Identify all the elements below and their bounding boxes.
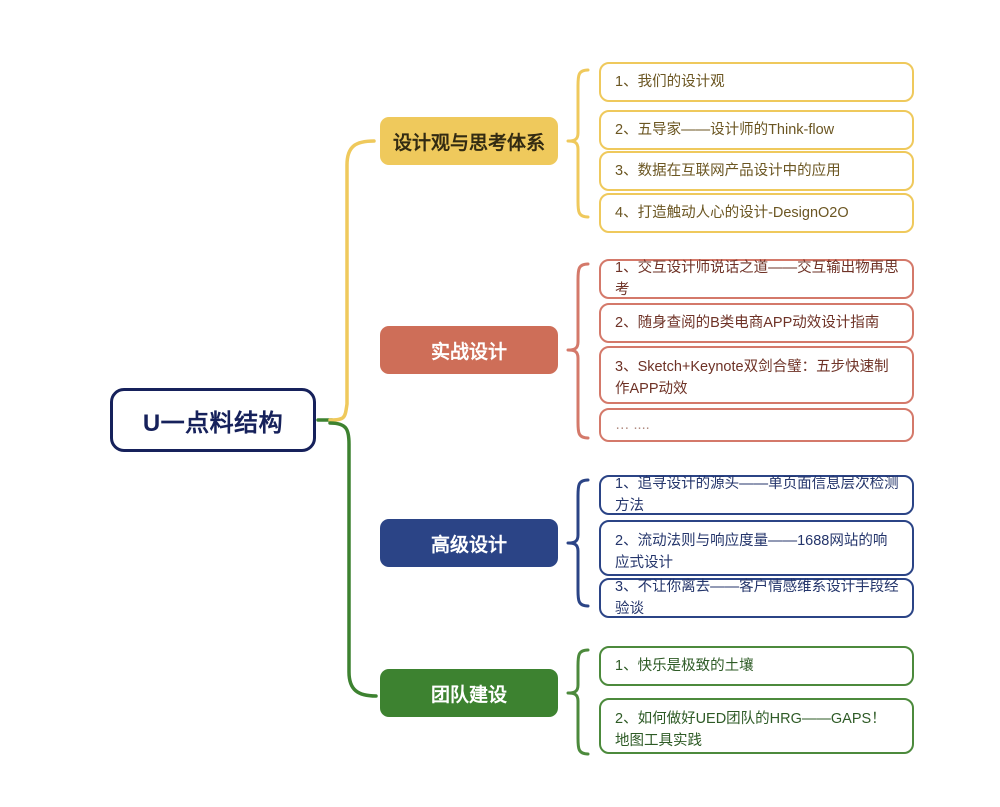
leaf-item-text: 4、打造触动人心的设计-DesignO2O xyxy=(615,202,849,224)
leaf-item[interactable]: 3、Sketch+Keynote双剑合璧：五步快速制作APP动效 xyxy=(599,346,914,404)
leaf-item[interactable]: … .... xyxy=(599,408,914,442)
category-label: 设计观与思考体系 xyxy=(393,128,545,155)
leaf-item[interactable]: 2、五导家——设计师的Think-flow xyxy=(599,110,914,150)
mindmap-canvas: U一点料结构 设计观与思考体系 1、我们的设计观 2、五导家——设计师的Thin… xyxy=(0,0,1000,807)
leaf-item-text: 1、交互设计师说话之道——交互输出物再思考 xyxy=(615,257,900,301)
leaf-item[interactable]: 1、交互设计师说话之道——交互输出物再思考 xyxy=(599,259,914,299)
leaf-item[interactable]: 2、随身查阅的B类电商APP动效设计指南 xyxy=(599,303,914,343)
category-label: 团队建设 xyxy=(431,680,507,707)
leaf-item[interactable]: 1、我们的设计观 xyxy=(599,62,914,102)
leaf-item[interactable]: 3、不让你离去——客户情感维系设计手段经验谈 xyxy=(599,578,914,618)
leaf-item-text: 3、Sketch+Keynote双剑合璧：五步快速制作APP动效 xyxy=(615,356,900,400)
brace-red xyxy=(568,264,588,438)
leaf-item-text: 3、不让你离去——客户情感维系设计手段经验谈 xyxy=(615,576,900,620)
brace-yellow xyxy=(568,70,588,217)
leaf-item-text: 3、数据在互联网产品设计中的应用 xyxy=(615,160,841,182)
leaf-item[interactable]: 2、流动法则与响应度量——1688网站的响应式设计 xyxy=(599,520,914,576)
leaf-item-text: 1、我们的设计观 xyxy=(615,71,725,93)
leaf-item-text: 1、快乐是极致的土壤 xyxy=(615,655,754,677)
category-label: 实战设计 xyxy=(431,337,507,364)
leaf-item[interactable]: 1、快乐是极致的土壤 xyxy=(599,646,914,686)
leaf-item[interactable]: 3、数据在互联网产品设计中的应用 xyxy=(599,151,914,191)
leaf-item-text: 2、流动法则与响应度量——1688网站的响应式设计 xyxy=(615,530,900,574)
leaf-item-text: 1、追寻设计的源头——单页面信息层次检测方法 xyxy=(615,473,900,517)
root-node-label: U一点料结构 xyxy=(143,403,283,438)
leaf-item[interactable]: 2、如何做好UED团队的HRG——GAPS！地图工具实践 xyxy=(599,698,914,754)
category-node-design-view[interactable]: 设计观与思考体系 xyxy=(380,117,558,165)
category-label: 高级设计 xyxy=(431,530,507,557)
leaf-item-text: … .... xyxy=(615,414,650,436)
brace-blue xyxy=(568,480,588,606)
brace-green xyxy=(568,650,588,754)
leaf-item-text: 2、随身查阅的B类电商APP动效设计指南 xyxy=(615,312,879,334)
category-node-advanced-design[interactable]: 高级设计 xyxy=(380,519,558,567)
branch-line-green xyxy=(330,423,376,696)
leaf-item-text: 2、五导家——设计师的Think-flow xyxy=(615,119,834,141)
category-node-team-building[interactable]: 团队建设 xyxy=(380,669,558,717)
leaf-item[interactable]: 4、打造触动人心的设计-DesignO2O xyxy=(599,193,914,233)
branch-line-yellow xyxy=(330,141,374,420)
category-node-practical-design[interactable]: 实战设计 xyxy=(380,326,558,374)
leaf-item-text: 2、如何做好UED团队的HRG——GAPS！地图工具实践 xyxy=(615,708,900,752)
root-node[interactable]: U一点料结构 xyxy=(110,388,316,452)
leaf-item[interactable]: 1、追寻设计的源头——单页面信息层次检测方法 xyxy=(599,475,914,515)
